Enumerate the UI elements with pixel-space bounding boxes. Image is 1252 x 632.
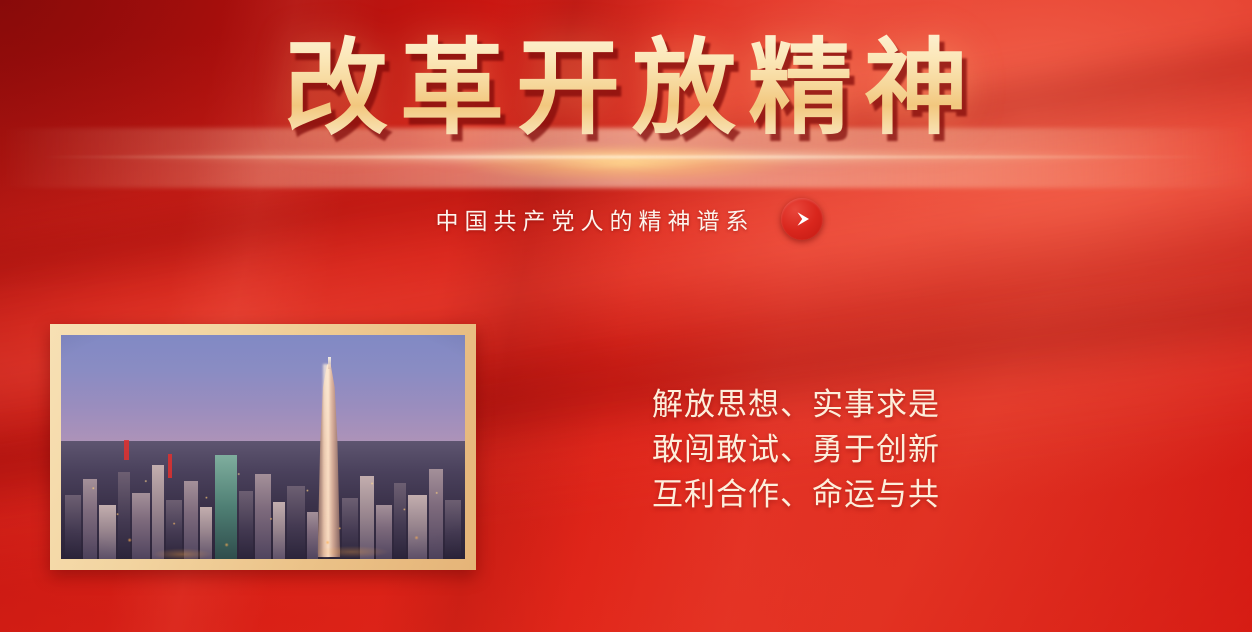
photo-city-lights bbox=[61, 441, 465, 559]
slogan-line-3: 互利合作、命运与共 bbox=[652, 472, 940, 517]
page-subtitle: 中国共产党人的精神谱系 bbox=[430, 202, 755, 236]
slogan-line-2: 敢闯敢试、勇于创新 bbox=[652, 427, 940, 472]
photo-tower-spire bbox=[328, 357, 331, 368]
slogan-block: 解放思想、实事求是 敢闯敢试、勇于创新 互利合作、命运与共 bbox=[652, 382, 940, 517]
photo-frame bbox=[50, 324, 476, 570]
city-photo bbox=[61, 335, 465, 559]
page-title: 改革开放精神 bbox=[272, 34, 980, 146]
chevron-right-icon bbox=[790, 209, 813, 229]
next-arrow-button[interactable] bbox=[781, 198, 823, 240]
title-light-line bbox=[38, 156, 1215, 158]
poster-canvas: 改革开放精神 中国共产党人的精神谱系 bbox=[0, 0, 1252, 632]
page-title-container: 改革开放精神 bbox=[0, 34, 1252, 146]
slogan-line-1: 解放思想、实事求是 bbox=[652, 382, 940, 427]
subtitle-row: 中国共产党人的精神谱系 bbox=[0, 198, 1252, 240]
